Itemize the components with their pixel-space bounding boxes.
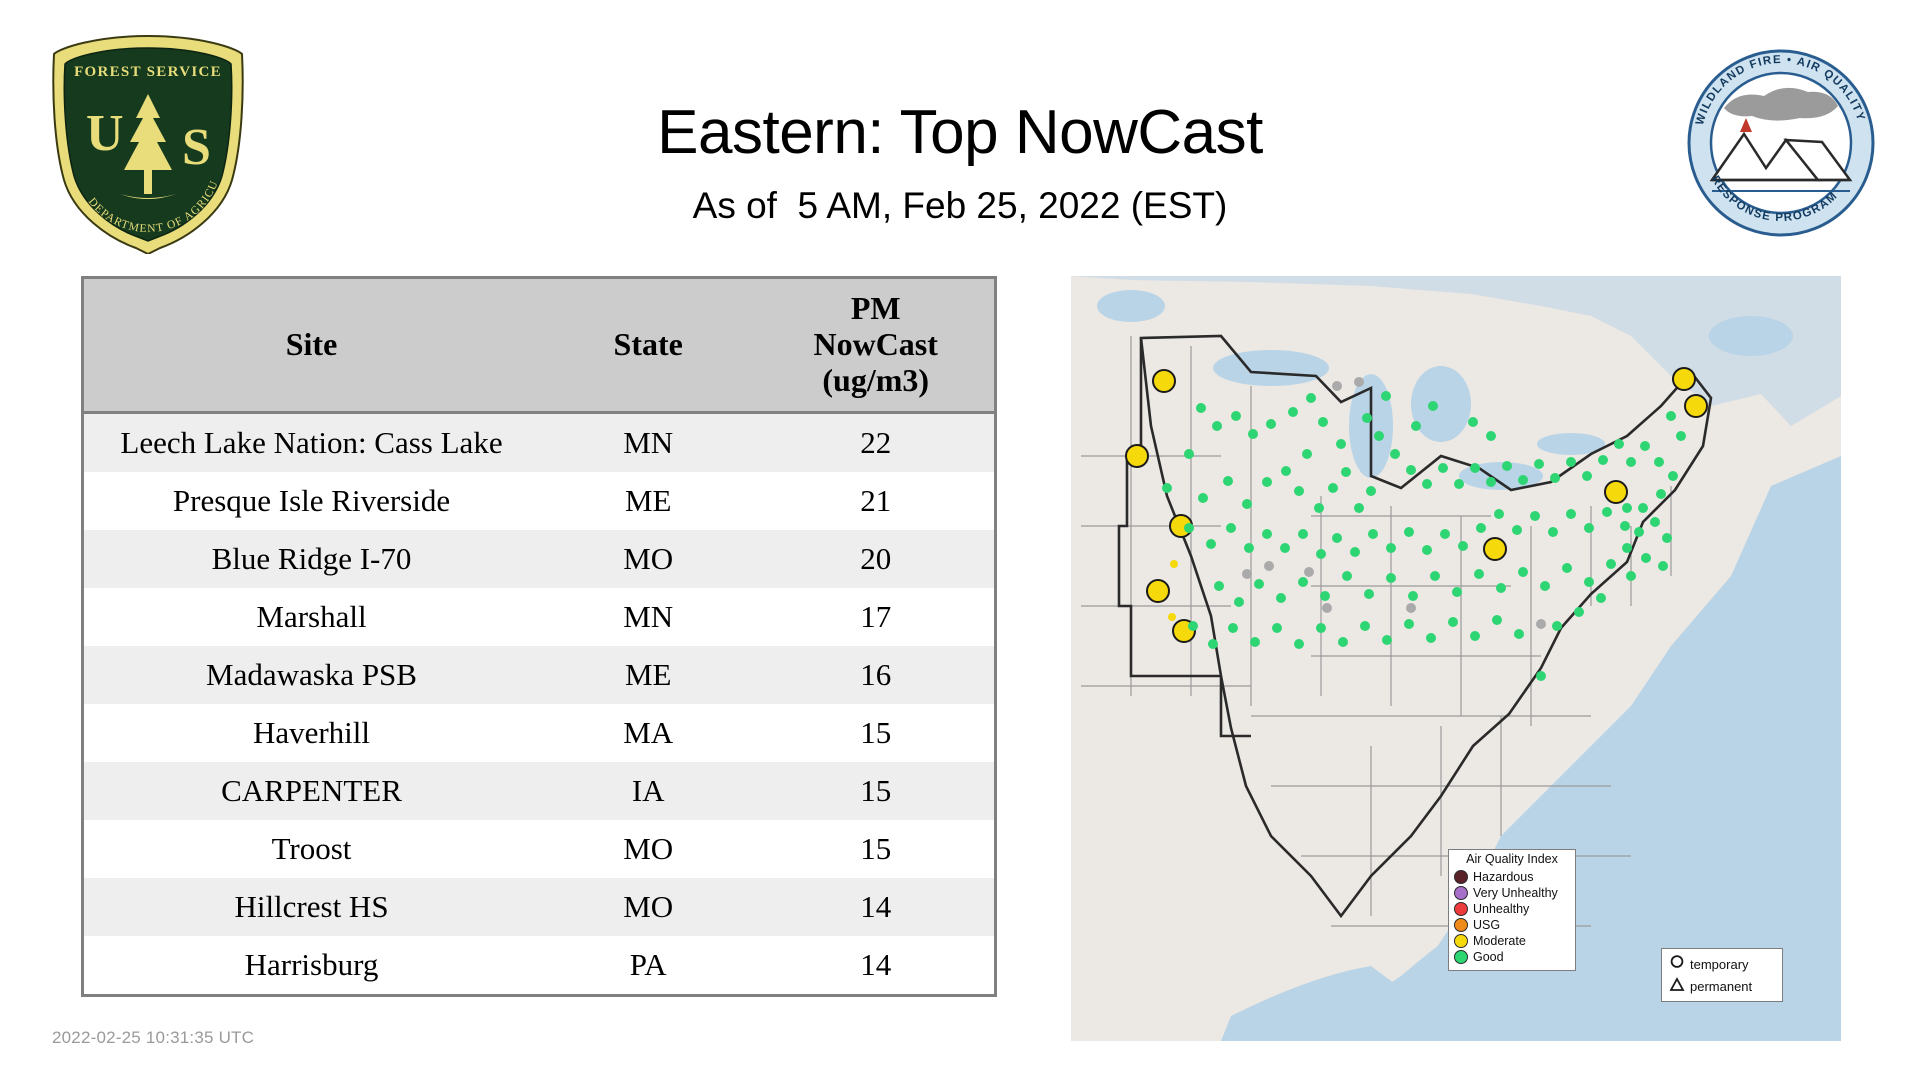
monitor-marker[interactable] [1250, 637, 1260, 647]
cell-site: Hillcrest HS [84, 878, 539, 936]
monitor-marker[interactable] [1448, 617, 1458, 627]
aqi-legend-title: Air Quality Index [1454, 853, 1570, 867]
monitor-marker[interactable] [1320, 591, 1330, 601]
monitor-marker[interactable] [1170, 560, 1178, 568]
monitor-marker[interactable] [1654, 457, 1664, 467]
lake-superior [1213, 350, 1329, 386]
pm-nowcast-line-3: (ug/m3) [761, 363, 990, 399]
monitor-marker[interactable] [1602, 507, 1612, 517]
monitor-type-legend: temporary permanent [1661, 948, 1783, 1002]
cell-site: Marshall [84, 588, 539, 646]
table-row: CARPENTERIA15 [84, 762, 994, 820]
cell-state: ME [539, 646, 757, 704]
monitor-marker[interactable] [1406, 603, 1416, 613]
monitor-marker[interactable] [1540, 581, 1550, 591]
monitor-marker[interactable] [1494, 509, 1504, 519]
monitor-marker[interactable] [1272, 623, 1282, 633]
monitor-marker[interactable] [1147, 580, 1169, 602]
monitor-marker[interactable] [1518, 475, 1528, 485]
monitor-marker[interactable] [1264, 561, 1274, 571]
aqi-legend-row: Good [1454, 949, 1570, 965]
monitor-marker[interactable] [1404, 619, 1414, 629]
monitor-marker[interactable] [1306, 393, 1316, 403]
monitor-marker[interactable] [1288, 407, 1298, 417]
monitor-marker[interactable] [1474, 569, 1484, 579]
aqi-swatch-icon [1454, 950, 1468, 964]
monitor-marker[interactable] [1534, 459, 1544, 469]
monitor-marker[interactable] [1223, 476, 1233, 486]
aqi-legend-row: Very Unhealthy [1454, 885, 1570, 901]
monitor-marker[interactable] [1566, 457, 1576, 467]
monitor-marker[interactable] [1470, 463, 1480, 473]
monitor-marker[interactable] [1518, 567, 1528, 577]
monitor-marker[interactable] [1614, 439, 1624, 449]
cell-state: MO [539, 820, 757, 878]
monitor-marker[interactable] [1360, 621, 1370, 631]
monitor-marker[interactable] [1440, 529, 1450, 539]
aqi-swatch-icon [1454, 870, 1468, 884]
monitor-marker[interactable] [1662, 533, 1672, 543]
monitor-marker[interactable] [1492, 615, 1502, 625]
monitor-marker[interactable] [1254, 579, 1264, 589]
monitor-marker[interactable] [1430, 571, 1440, 581]
monitor-marker[interactable] [1184, 449, 1194, 459]
cell-state: MN [539, 588, 757, 646]
monitor-marker[interactable] [1294, 486, 1304, 496]
monitor-marker[interactable] [1390, 449, 1400, 459]
monitor-marker[interactable] [1298, 529, 1308, 539]
monitor-marker[interactable] [1316, 549, 1326, 559]
monitor-marker[interactable] [1362, 413, 1372, 423]
wildland-fire-air-quality-logo: WILDLAND FIRE • AIR QUALITY RESPONSE PRO… [1686, 48, 1876, 238]
table-row: Presque Isle RiversideME21 [84, 472, 994, 530]
cell-pm-nowcast: 22 [757, 413, 994, 473]
monitor-marker[interactable] [1328, 483, 1338, 493]
aqi-legend-row: Unhealthy [1454, 901, 1570, 917]
monitor-marker[interactable] [1438, 463, 1448, 473]
monitor-marker[interactable] [1354, 377, 1364, 387]
aqi-swatch-icon [1454, 918, 1468, 932]
monitor-marker[interactable] [1606, 559, 1616, 569]
table-row: Madawaska PSBME16 [84, 646, 994, 704]
monitor-marker[interactable] [1422, 479, 1432, 489]
monitor-marker[interactable] [1214, 581, 1224, 591]
monitor-marker[interactable] [1226, 523, 1236, 533]
cell-state: MO [539, 530, 757, 588]
monitor-marker[interactable] [1574, 607, 1584, 617]
monitor-marker[interactable] [1354, 503, 1364, 513]
cell-site: CARPENTER [84, 762, 539, 820]
monitor-marker[interactable] [1668, 471, 1678, 481]
monitor-marker[interactable] [1212, 421, 1222, 431]
monitor-marker[interactable] [1411, 421, 1421, 431]
monitor-marker[interactable] [1426, 633, 1436, 643]
legend-label-permanent: permanent [1690, 979, 1752, 994]
monitor-marker[interactable] [1386, 543, 1396, 553]
cell-site: Presque Isle Riverside [84, 472, 539, 530]
monitor-marker[interactable] [1530, 511, 1540, 521]
monitor-marker[interactable] [1536, 619, 1546, 629]
monitor-marker[interactable] [1622, 503, 1632, 513]
aqi-swatch-icon [1454, 902, 1468, 916]
aqi-legend-label: USG [1473, 917, 1500, 933]
monitor-marker[interactable] [1486, 431, 1496, 441]
column-header-state: State [539, 279, 757, 413]
top-nowcast-table: Site State PM NowCast (ug/m3) Leech Lake… [81, 276, 997, 997]
cell-pm-nowcast: 20 [757, 530, 994, 588]
generation-timestamp: 2022-02-25 10:31:35 UTC [52, 1028, 254, 1048]
monitor-marker[interactable] [1266, 419, 1276, 429]
monitor-marker[interactable] [1484, 538, 1506, 560]
monitor-marker[interactable] [1298, 577, 1308, 587]
air-quality-map[interactable]: Air Quality Index HazardousVery Unhealth… [1071, 276, 1841, 1041]
aqi-legend-label: Good [1473, 949, 1504, 965]
table-row: Leech Lake Nation: Cass LakeMN22 [84, 413, 994, 473]
monitor-marker[interactable] [1322, 603, 1332, 613]
table-row: HaverhillMA15 [84, 704, 994, 762]
monitor-marker[interactable] [1208, 639, 1218, 649]
legend-row-permanent: permanent [1667, 975, 1777, 997]
monitor-marker[interactable] [1244, 543, 1254, 553]
table-body: Leech Lake Nation: Cass LakeMN22Presque … [84, 413, 994, 995]
monitor-marker[interactable] [1280, 543, 1290, 553]
monitor-marker[interactable] [1408, 591, 1418, 601]
monitor-marker[interactable] [1382, 635, 1392, 645]
monitor-marker[interactable] [1332, 533, 1342, 543]
monitor-marker[interactable] [1342, 571, 1352, 581]
legend-row-temporary: temporary [1667, 953, 1777, 975]
monitor-marker[interactable] [1496, 583, 1506, 593]
cell-site: Troost [84, 820, 539, 878]
monitor-marker[interactable] [1364, 589, 1374, 599]
monitor-marker[interactable] [1428, 401, 1438, 411]
monitor-marker[interactable] [1162, 483, 1172, 493]
table-header-row: Site State PM NowCast (ug/m3) [84, 279, 994, 413]
cell-state: PA [539, 936, 757, 994]
cell-site: Leech Lake Nation: Cass Lake [84, 413, 539, 473]
cell-site: Harrisburg [84, 936, 539, 994]
cell-site: Madawaska PSB [84, 646, 539, 704]
cell-pm-nowcast: 16 [757, 646, 994, 704]
monitor-marker[interactable] [1685, 395, 1707, 417]
column-header-site: Site [84, 279, 539, 413]
monitor-marker[interactable] [1368, 529, 1378, 539]
monitor-marker[interactable] [1302, 449, 1312, 459]
monitor-marker[interactable] [1452, 587, 1462, 597]
cell-pm-nowcast: 14 [757, 878, 994, 936]
cell-state: MA [539, 704, 757, 762]
monitor-marker[interactable] [1404, 527, 1414, 537]
monitor-marker[interactable] [1626, 457, 1636, 467]
page-title: Eastern: Top NowCast [300, 100, 1620, 165]
monitor-marker[interactable] [1673, 368, 1695, 390]
cell-state: MN [539, 413, 757, 473]
aqi-legend-label: Unhealthy [1473, 901, 1529, 917]
aqi-legend-label: Very Unhealthy [1473, 885, 1558, 901]
table-row: MarshallMN17 [84, 588, 994, 646]
monitor-marker[interactable] [1605, 481, 1627, 503]
pm-nowcast-line-1: PM [761, 291, 990, 327]
aqi-swatch-icon [1454, 886, 1468, 900]
cell-site: Haverhill [84, 704, 539, 762]
monitor-marker[interactable] [1153, 370, 1175, 392]
monitor-marker[interactable] [1502, 461, 1512, 471]
usfs-shield-logo: FOREST SERVICE U S DEPARTMENT OF AGRICUL… [48, 32, 248, 254]
air-quality-index-legend: Air Quality Index HazardousVery Unhealth… [1448, 849, 1576, 971]
monitor-marker[interactable] [1622, 543, 1632, 553]
monitor-marker[interactable] [1620, 521, 1630, 531]
monitor-marker[interactable] [1514, 629, 1524, 639]
aqi-legend-row: Hazardous [1454, 869, 1570, 885]
cell-state: IA [539, 762, 757, 820]
cell-pm-nowcast: 15 [757, 762, 994, 820]
monitor-marker[interactable] [1381, 391, 1391, 401]
cell-site: Blue Ridge I-70 [84, 530, 539, 588]
aqi-swatch-icon [1454, 934, 1468, 948]
monitor-marker[interactable] [1314, 503, 1324, 513]
usfs-monogram-s: S [182, 119, 211, 176]
monitor-marker[interactable] [1666, 411, 1676, 421]
monitor-marker[interactable] [1374, 431, 1384, 441]
monitor-marker[interactable] [1658, 561, 1668, 571]
pm-nowcast-line-2: NowCast [761, 327, 990, 363]
monitor-marker[interactable] [1228, 623, 1238, 633]
monitor-marker[interactable] [1650, 517, 1660, 527]
triangle-outline-icon [1667, 976, 1687, 996]
aqi-legend-label: Moderate [1473, 933, 1526, 949]
monitor-marker[interactable] [1476, 523, 1486, 533]
monitor-marker[interactable] [1242, 499, 1252, 509]
monitor-marker[interactable] [1350, 547, 1360, 557]
monitor-marker[interactable] [1276, 593, 1286, 603]
monitor-marker[interactable] [1168, 613, 1176, 621]
monitor-marker[interactable] [1366, 486, 1376, 496]
monitor-marker[interactable] [1262, 529, 1272, 539]
monitor-marker[interactable] [1231, 411, 1241, 421]
monitor-marker[interactable] [1386, 573, 1396, 583]
monitor-marker[interactable] [1126, 445, 1148, 467]
monitor-marker[interactable] [1341, 467, 1351, 477]
monitor-marker[interactable] [1198, 493, 1208, 503]
monitor-marker[interactable] [1548, 527, 1558, 537]
monitor-marker[interactable] [1550, 473, 1560, 483]
monitor-marker[interactable] [1656, 489, 1666, 499]
monitor-marker[interactable] [1512, 525, 1522, 535]
monitor-marker[interactable] [1536, 671, 1546, 681]
monitor-marker[interactable] [1552, 621, 1562, 631]
monitor-marker[interactable] [1242, 569, 1252, 579]
cell-state: ME [539, 472, 757, 530]
monitor-marker[interactable] [1304, 567, 1314, 577]
usfs-monogram-u: U [86, 105, 124, 162]
monitor-marker[interactable] [1598, 455, 1608, 465]
monitor-marker[interactable] [1188, 621, 1198, 631]
monitor-marker[interactable] [1566, 509, 1576, 519]
monitor-marker[interactable] [1562, 563, 1572, 573]
monitor-marker[interactable] [1262, 477, 1272, 487]
monitor-marker[interactable] [1468, 417, 1478, 427]
usfs-logo-top-text: FOREST SERVICE [74, 64, 222, 80]
monitor-marker[interactable] [1422, 545, 1432, 555]
monitor-marker[interactable] [1332, 381, 1342, 391]
table-row: Blue Ridge I-70MO20 [84, 530, 994, 588]
monitor-marker[interactable] [1596, 593, 1606, 603]
monitor-marker[interactable] [1206, 539, 1216, 549]
monitor-marker[interactable] [1338, 637, 1348, 647]
monitor-marker[interactable] [1196, 403, 1206, 413]
monitor-marker[interactable] [1406, 465, 1416, 475]
monitor-marker[interactable] [1458, 541, 1468, 551]
table-row: TroostMO15 [84, 820, 994, 878]
aqi-legend-row: USG [1454, 917, 1570, 933]
monitor-marker[interactable] [1336, 439, 1346, 449]
cell-pm-nowcast: 14 [757, 936, 994, 994]
monitor-marker[interactable] [1626, 571, 1636, 581]
cell-pm-nowcast: 15 [757, 704, 994, 762]
monitor-marker[interactable] [1184, 523, 1194, 533]
table-row: Hillcrest HSMO14 [84, 878, 994, 936]
monitor-marker[interactable] [1316, 623, 1326, 633]
column-header-pm-nowcast: PM NowCast (ug/m3) [757, 279, 994, 413]
monitor-marker[interactable] [1584, 577, 1594, 587]
monitor-marker[interactable] [1318, 417, 1328, 427]
monitor-marker[interactable] [1281, 466, 1291, 476]
cell-pm-nowcast: 21 [757, 472, 994, 530]
monitor-marker[interactable] [1234, 597, 1244, 607]
monitor-marker[interactable] [1634, 527, 1644, 537]
monitor-marker[interactable] [1638, 503, 1648, 513]
lake-huron [1411, 366, 1471, 442]
monitor-marker[interactable] [1584, 523, 1594, 533]
cell-state: MO [539, 878, 757, 936]
page-subtitle: As of 5 AM, Feb 25, 2022 (EST) [300, 185, 1620, 227]
circle-outline-icon [1667, 954, 1687, 974]
monitor-marker[interactable] [1582, 471, 1592, 481]
cell-pm-nowcast: 17 [757, 588, 994, 646]
aqi-legend-label: Hazardous [1473, 869, 1533, 885]
monitor-marker[interactable] [1641, 553, 1651, 563]
aqi-legend-row: Moderate [1454, 933, 1570, 949]
monitor-marker[interactable] [1454, 479, 1464, 489]
monitor-marker[interactable] [1486, 477, 1496, 487]
monitor-marker[interactable] [1248, 429, 1258, 439]
monitor-marker[interactable] [1640, 441, 1650, 451]
table-row: HarrisburgPA14 [84, 936, 994, 994]
cell-pm-nowcast: 15 [757, 820, 994, 878]
legend-label-temporary: temporary [1690, 957, 1749, 972]
monitor-marker[interactable] [1294, 639, 1304, 649]
monitor-marker[interactable] [1470, 631, 1480, 641]
monitor-marker[interactable] [1676, 431, 1686, 441]
